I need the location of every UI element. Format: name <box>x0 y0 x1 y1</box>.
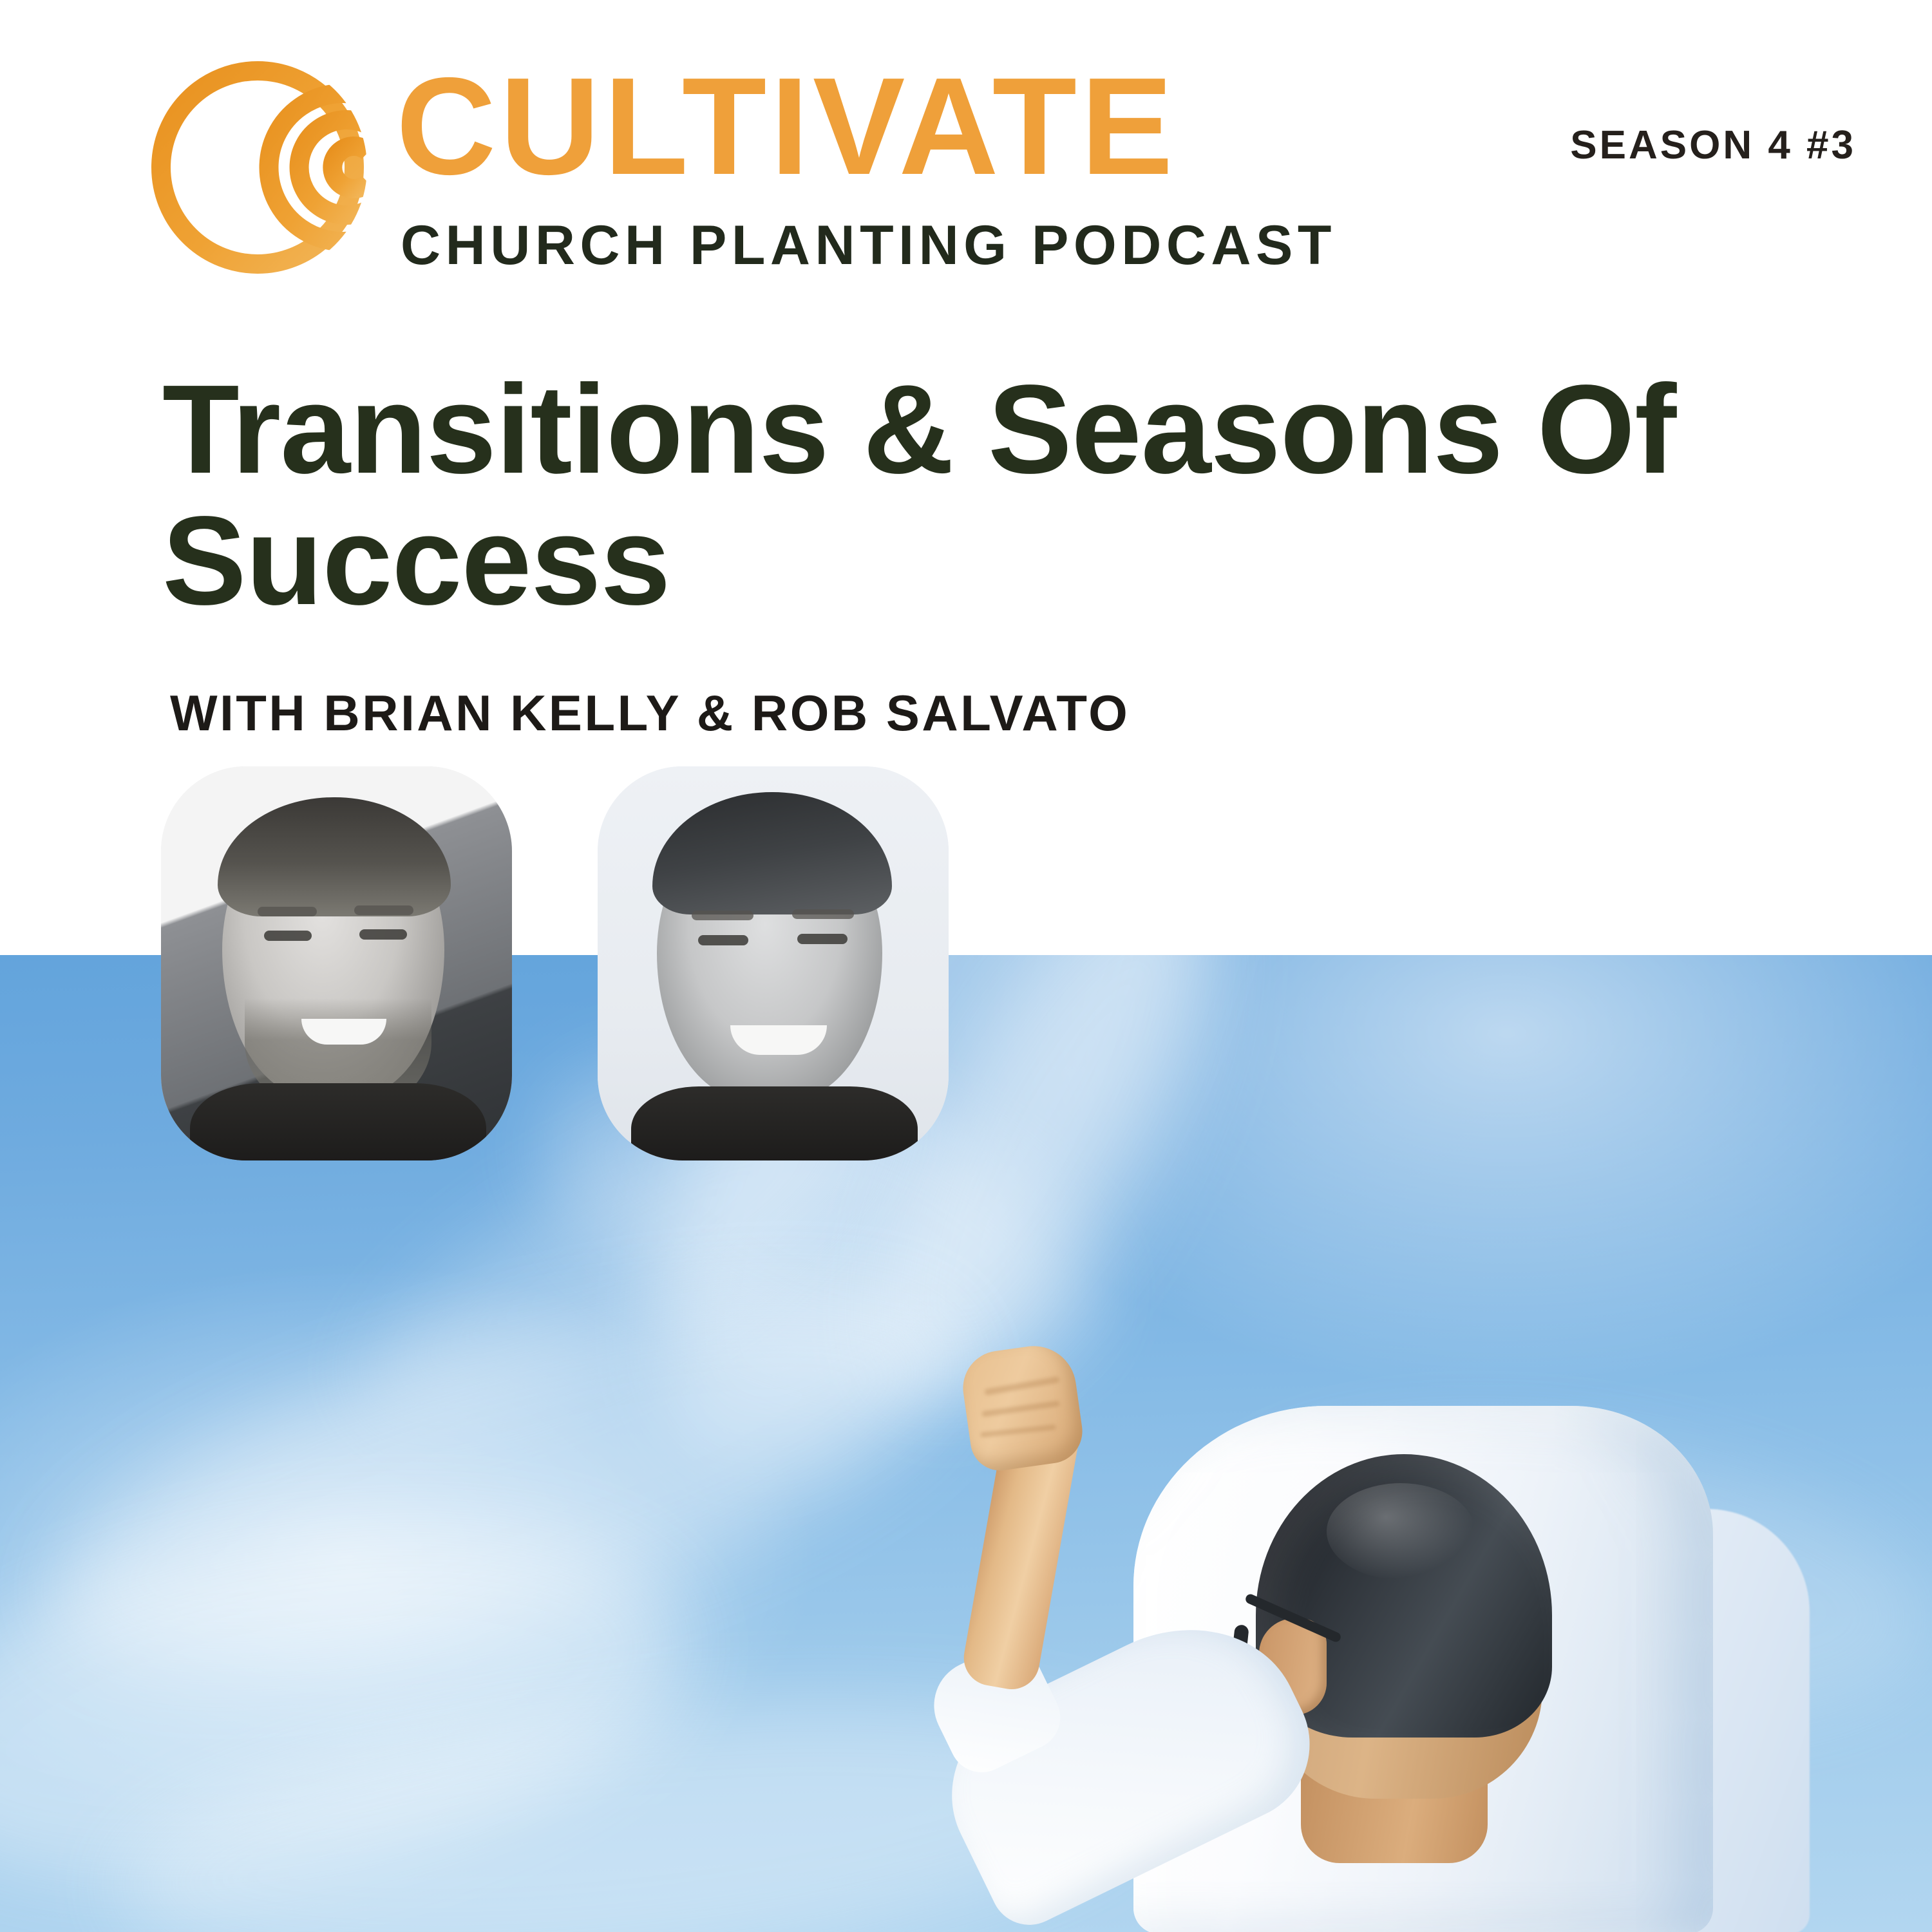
avatar-eye <box>698 935 748 945</box>
brand-tagline: CHURCH PLANTING PODCAST <box>401 218 1336 273</box>
avatar-eyebrow <box>258 907 317 916</box>
avatar-eyebrow <box>354 905 413 915</box>
avatar-smile <box>730 1025 827 1055</box>
brand-wordmark: CULTIVATE <box>396 57 1177 195</box>
episode-title-line-2: Success <box>162 495 1708 627</box>
hair-highlight <box>1327 1483 1475 1580</box>
avatar-smile <box>301 1019 386 1045</box>
avatar-eye <box>797 934 848 944</box>
concentric-c-circle-icon <box>147 57 368 278</box>
episode-title-line-1: Transitions & Seasons Of <box>162 364 1708 495</box>
avatar-collar <box>631 1086 918 1160</box>
avatar-rob-salvato <box>598 766 949 1160</box>
avatar-eye <box>359 929 407 940</box>
season-episode-label: SEASON 4 #3 <box>1570 122 1856 168</box>
avatar-brian-kelly <box>161 766 512 1160</box>
avatar-eyebrow <box>792 909 854 919</box>
avatar-eye <box>264 931 312 941</box>
avatar-collar <box>190 1083 486 1160</box>
podcast-cover: CULTIVATE CHURCH PLANTING PODCAST SEASON… <box>0 0 1932 1932</box>
episode-byline: WITH BRIAN KELLY & ROB SALVATO <box>170 684 1130 743</box>
episode-title: Transitions & Seasons Of Success <box>162 364 1708 627</box>
avatar-eyebrow <box>692 911 753 920</box>
